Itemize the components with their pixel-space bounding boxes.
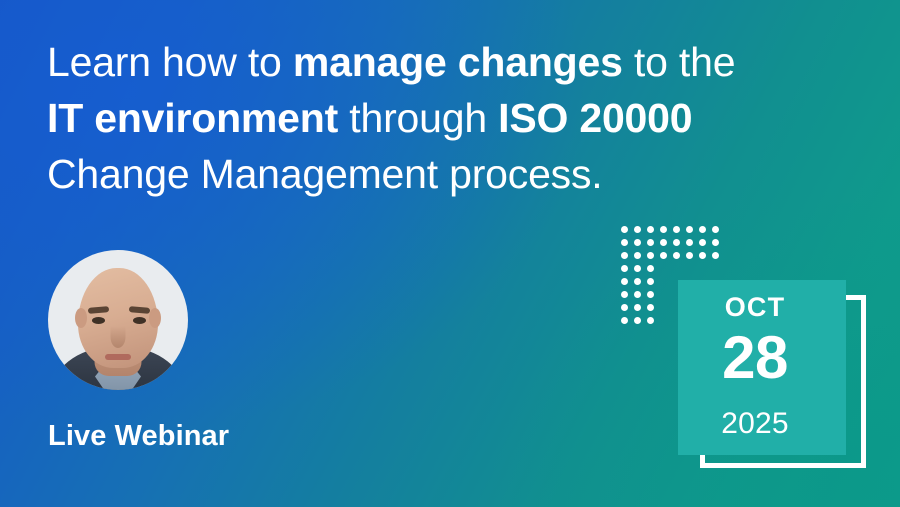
grid-dot: [634, 265, 641, 272]
headline: Learn how to manage changes to the IT en…: [47, 34, 847, 202]
grid-dot: [634, 226, 641, 233]
grid-dot: [621, 291, 628, 298]
grid-dot: [634, 317, 641, 324]
grid-dot: [647, 278, 654, 285]
grid-dot: [634, 252, 641, 259]
grid-dot: [634, 304, 641, 311]
grid-dot: [699, 239, 706, 246]
headline-line1-emphasis: manage changes: [293, 39, 623, 85]
headline-line1-part3: to the: [623, 39, 736, 85]
grid-dot: [634, 239, 641, 246]
headline-line3-part1: Change Management process.: [47, 151, 602, 197]
headline-line2-emphasis-2: ISO 20000: [498, 95, 692, 141]
grid-dot: [673, 226, 680, 233]
grid-dot: [647, 252, 654, 259]
grid-dot: [712, 226, 719, 233]
grid-dot: [621, 317, 628, 324]
grid-dot: [699, 226, 706, 233]
grid-dot: [647, 317, 654, 324]
grid-dot: [621, 239, 628, 246]
speaker-portrait-image: [48, 250, 188, 390]
grid-dot: [686, 226, 693, 233]
grid-dot: [712, 239, 719, 246]
grid-dot: [660, 239, 667, 246]
headline-line2-part2: through: [338, 95, 498, 141]
grid-dot: [647, 291, 654, 298]
grid-dot: [621, 252, 628, 259]
grid-dot: [660, 252, 667, 259]
portrait-face: [78, 268, 158, 368]
portrait-ear-right: [149, 308, 161, 328]
grid-dot: [712, 252, 719, 259]
headline-line1-part1: Learn how to: [47, 39, 293, 85]
grid-dot: [634, 278, 641, 285]
grid-dot: [634, 291, 641, 298]
grid-dot: [673, 239, 680, 246]
grid-dot: [621, 278, 628, 285]
grid-dot: [686, 252, 693, 259]
grid-dot: [686, 239, 693, 246]
grid-dot: [621, 304, 628, 311]
headline-line-1: Learn how to manage changes to the: [47, 34, 847, 90]
webinar-promo-banner: Learn how to manage changes to the IT en…: [0, 0, 900, 507]
portrait-mouth: [105, 354, 131, 360]
event-type-label: Live Webinar: [48, 420, 229, 453]
grid-dot: [647, 239, 654, 246]
date-month: OCT: [678, 292, 832, 323]
headline-line2-emphasis-1: IT environment: [47, 95, 338, 141]
grid-dot: [621, 226, 628, 233]
headline-line-2: IT environment through ISO 20000: [47, 90, 847, 146]
grid-dot: [621, 265, 628, 272]
headline-line-3: Change Management process.: [47, 146, 847, 202]
grid-dot: [647, 265, 654, 272]
grid-dot: [673, 252, 680, 259]
avatar: [48, 250, 188, 390]
portrait-nose: [111, 326, 126, 348]
date-year: 2025: [678, 407, 832, 441]
grid-dot: [660, 226, 667, 233]
date-card: OCT 28 2025: [678, 280, 846, 455]
grid-dot: [647, 226, 654, 233]
grid-dot: [647, 304, 654, 311]
portrait-eye-left: [92, 317, 105, 324]
portrait-ear-left: [75, 308, 87, 328]
grid-dot: [699, 252, 706, 259]
portrait-eye-right: [133, 317, 146, 324]
date-day: 28: [678, 327, 832, 389]
